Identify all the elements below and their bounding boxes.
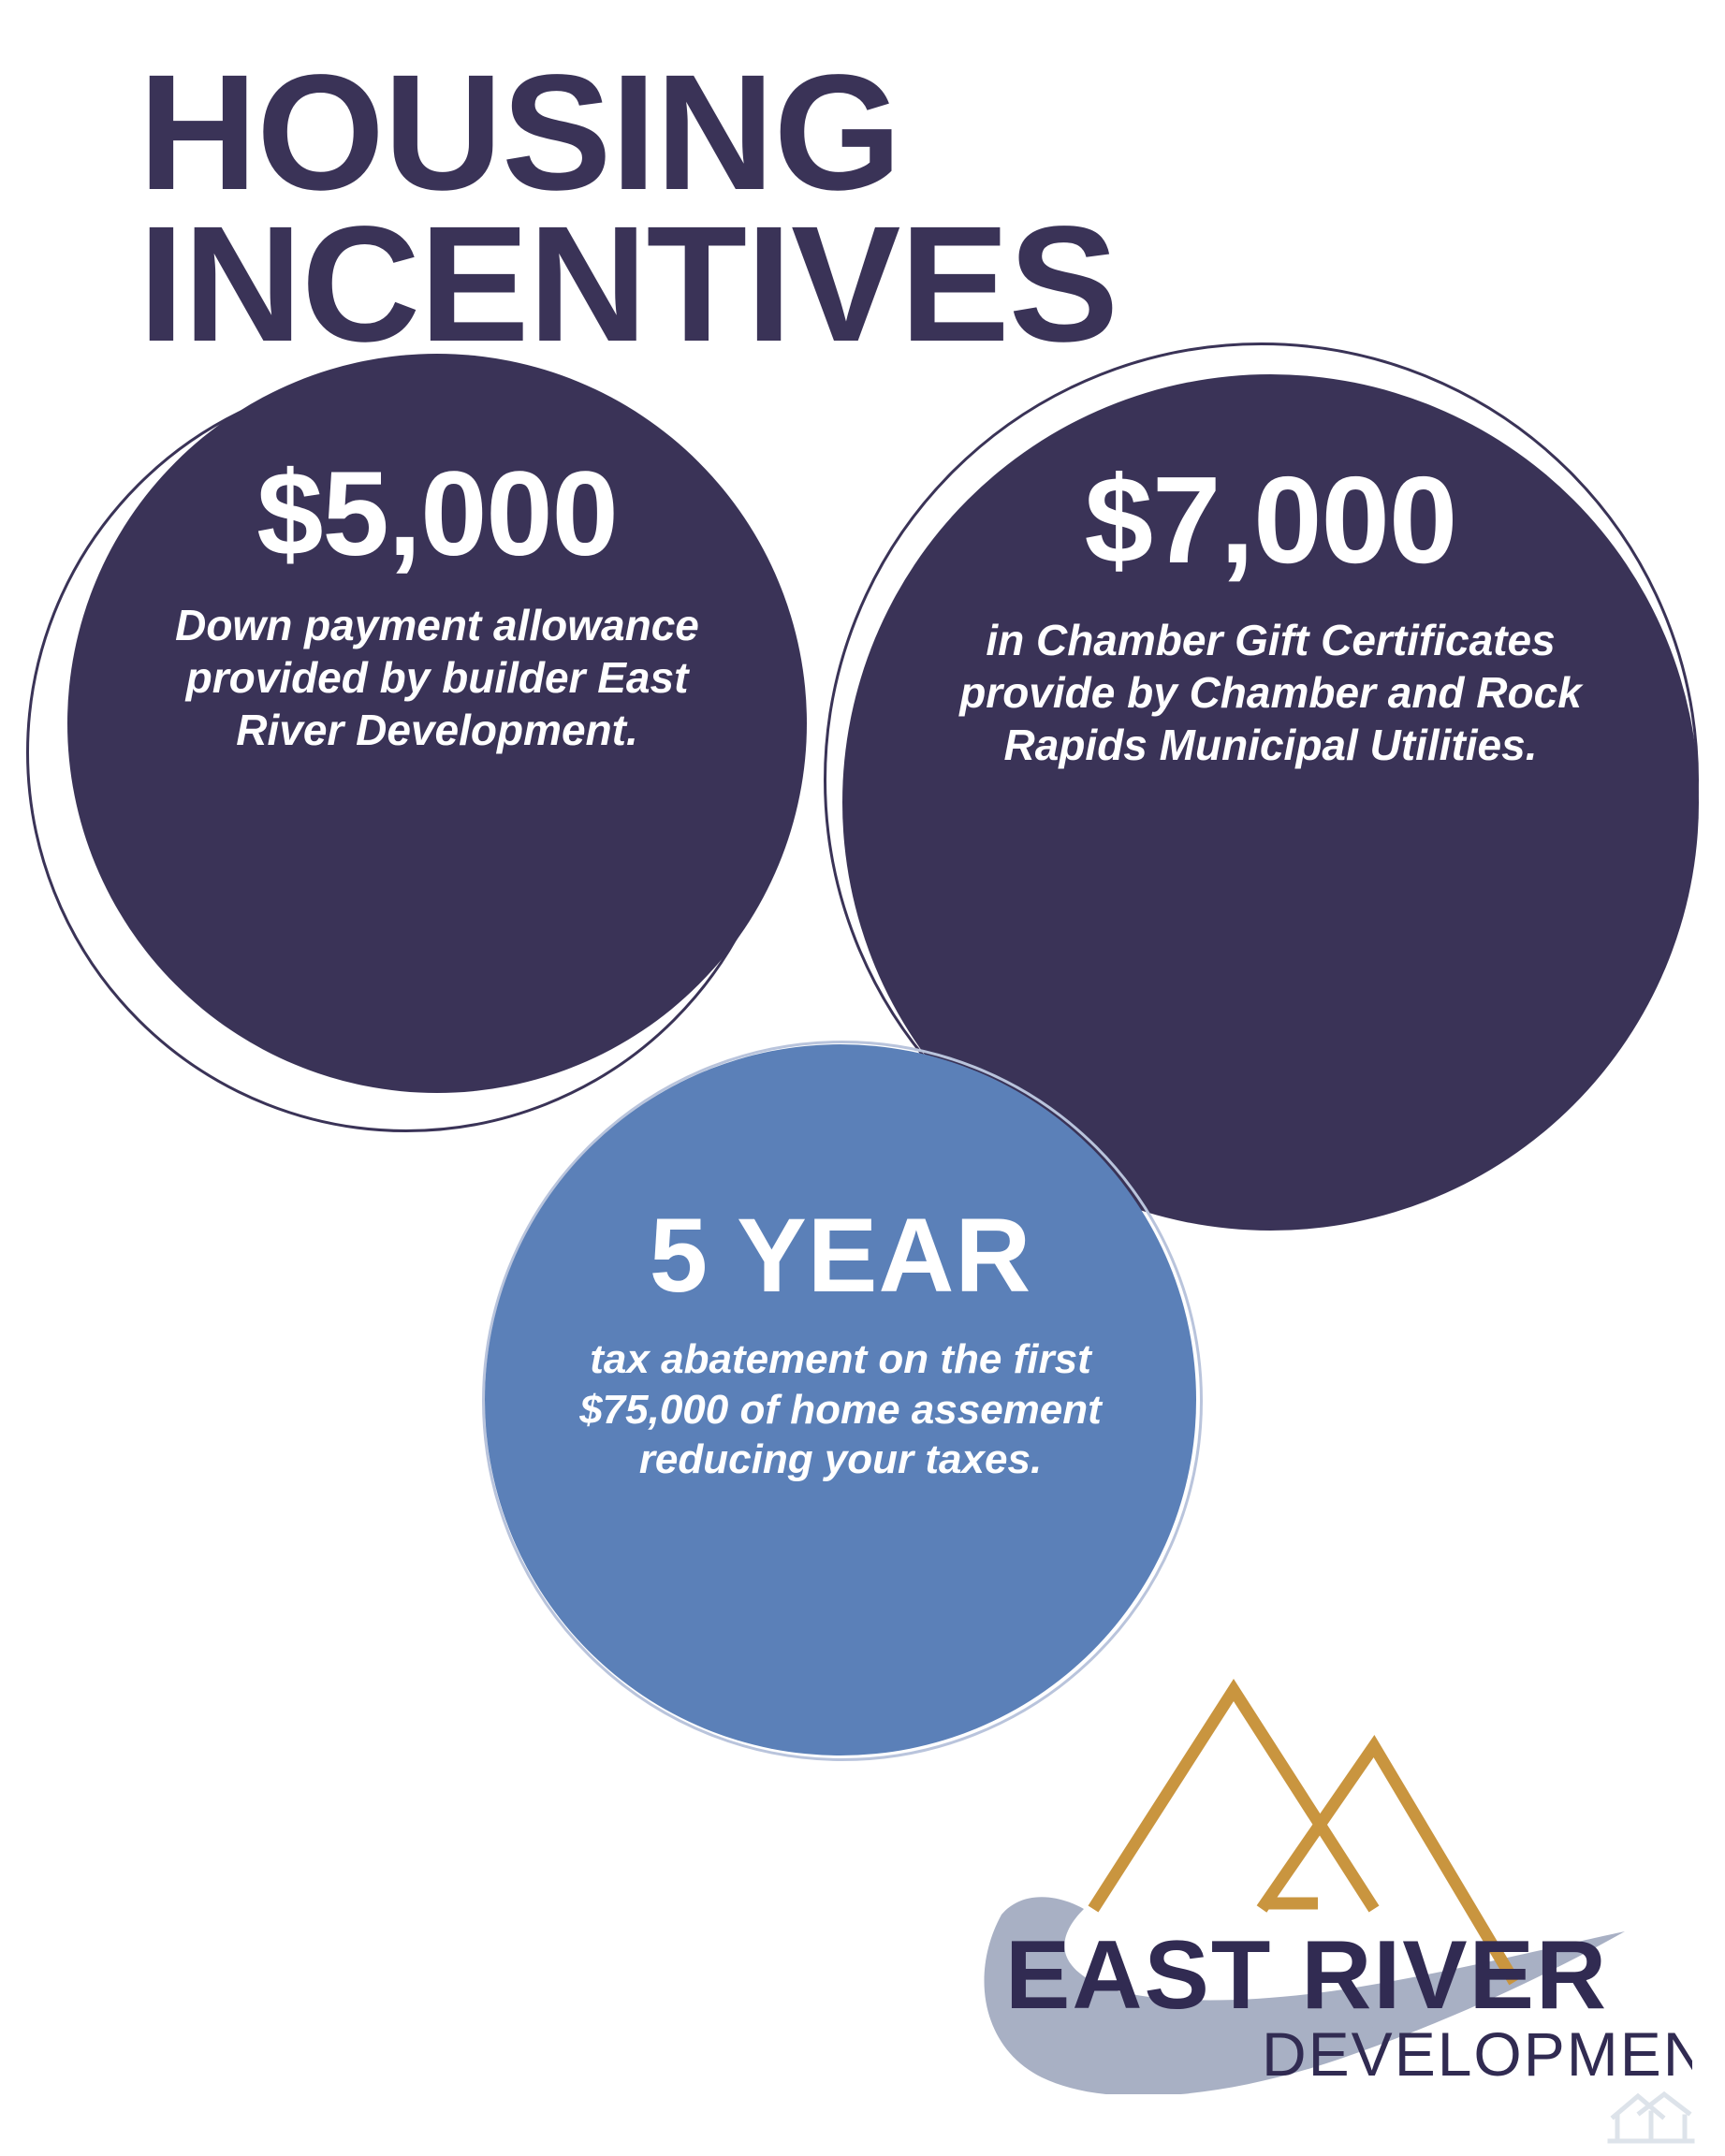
incentive-amount-tax-abatement: 5 YEAR [650,1203,1032,1308]
title-line-2: INCENTIVES [139,210,1468,361]
incentive-amount-down-payment: $5,000 [256,455,618,575]
incentive-description-down-payment: Down payment allowance provided by build… [128,599,746,756]
incentive-description-tax-abatement: tax abatement on the first $75,000 of ho… [550,1334,1131,1485]
incentive-circle-down-payment: $5,000 Down payment allowance provided b… [67,354,807,1093]
logo-primary-text: EAST RIVER [1005,1921,1608,2030]
housing-incentives-poster: HOUSING INCENTIVES $5,000 Down payment a… [0,0,1725,2156]
house-outline-icon [1606,2085,1696,2147]
page-title: HOUSING INCENTIVES [139,58,1468,361]
incentive-circle-tax-abatement: 5 YEAR tax abatement on the first $75,00… [485,1044,1196,1755]
incentive-amount-chamber-gift-certificates: $7,000 [1085,459,1457,582]
incentive-description-chamber-gift-certificates: in Chamber Gift Certificates provide by … [915,614,1627,771]
title-line-1: HOUSING [139,58,1468,210]
logo-secondary-text: DEVELOPMENT [1262,2019,1692,2089]
east-river-development-logo: EAST RIVER DEVELOPMENT [953,1673,1692,2094]
